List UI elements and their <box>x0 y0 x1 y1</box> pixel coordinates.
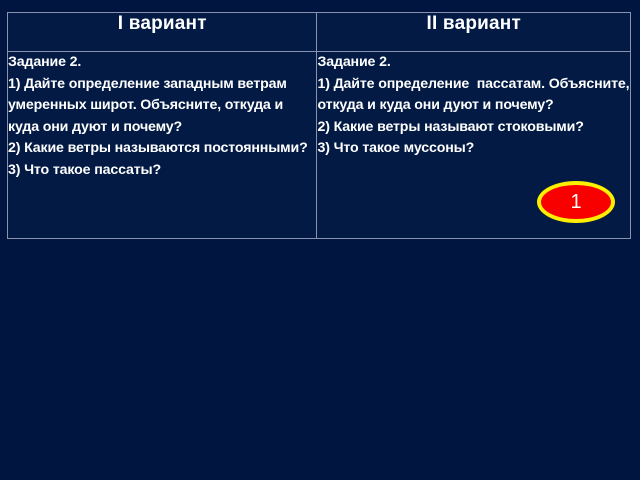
slide-canvas: I вариант II вариант Задание 2. 1) Дайте… <box>0 0 640 480</box>
slide-number-label: 1 <box>570 192 581 212</box>
task-text-variant-2: Задание 2. 1) Дайте определение пассатам… <box>317 52 630 160</box>
cell-variant-1: Задание 2. 1) Дайте определение западным… <box>8 52 317 239</box>
column-header-variant-2: II вариант <box>317 13 631 52</box>
slide-number-badge: 1 <box>537 181 615 223</box>
task-text-variant-1: Задание 2. 1) Дайте определение западным… <box>8 52 316 181</box>
column-header-variant-1: I вариант <box>8 13 317 52</box>
table-row: Задание 2. 1) Дайте определение западным… <box>8 52 631 239</box>
table-header-row: I вариант II вариант <box>8 13 631 52</box>
